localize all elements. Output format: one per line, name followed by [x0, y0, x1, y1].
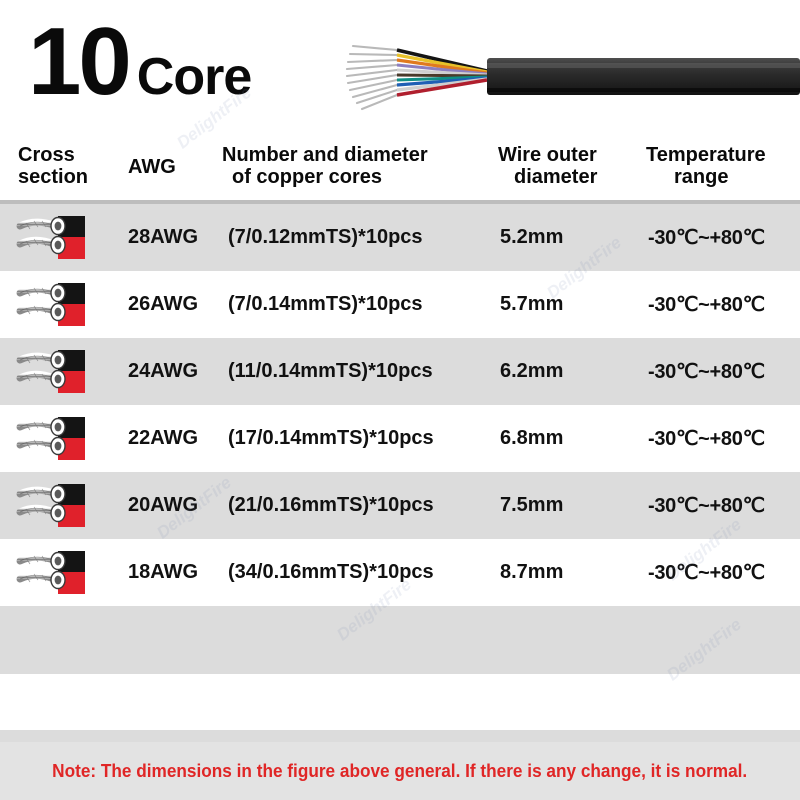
temperature-value: -30℃~+80℃ — [648, 359, 765, 384]
cell-outer-diameter: 5.7mm — [500, 271, 640, 338]
core-count: 10 — [28, 14, 129, 110]
cell-cross-section — [14, 204, 118, 271]
cell-awg: 28AWG — [128, 204, 220, 271]
header-cross-section-line1: Cross — [18, 144, 75, 166]
cell-cross-section — [14, 338, 118, 405]
header-cores-line2: of copper cores — [222, 166, 488, 188]
cell-awg: 22AWG — [128, 405, 220, 472]
header-temp-line1: Temperature — [646, 144, 766, 166]
cross-section-icon — [14, 347, 88, 397]
table-row: 22AWG(17/0.14mmTS)*10pcs6.8mm-30℃~+80℃ — [0, 405, 800, 472]
table-row: 20AWG(21/0.16mmTS)*10pcs7.5mm-30℃~+80℃ — [0, 472, 800, 539]
cell-cross-section — [14, 271, 118, 338]
header-outer-line1: Wire outer — [498, 144, 597, 166]
table-row: 18AWG(34/0.16mmTS)*10pcs8.7mm-30℃~+80℃ — [0, 539, 800, 606]
table-row: 24AWG(11/0.14mmTS)*10pcs6.2mm-30℃~+80℃ — [0, 338, 800, 405]
spec-table-body: 28AWG(7/0.12mmTS)*10pcs5.2mm-30℃~+80℃ — [0, 204, 800, 606]
table-header-row: Cross section AWG Number and diameter of… — [0, 132, 800, 204]
temperature-value: -30℃~+80℃ — [648, 493, 765, 518]
page-title: 10 Core — [28, 14, 251, 110]
cell-cross-section — [14, 405, 118, 472]
cell-outer-diameter: 6.8mm — [500, 405, 640, 472]
cell-copper-cores: (11/0.14mmTS)*10pcs — [228, 338, 490, 405]
header-cores-line1: Number and diameter — [222, 144, 428, 166]
cell-cross-section — [14, 472, 118, 539]
cross-section-icon — [14, 213, 88, 263]
note-bar: Note: The dimensions in the figure above… — [0, 742, 800, 800]
table-row: 26AWG(7/0.14mmTS)*10pcs5.7mm-30℃~+80℃ — [0, 271, 800, 338]
cross-section-icon — [14, 481, 88, 531]
spec-sheet-page: 10 Core — [0, 0, 800, 800]
cell-cross-section — [14, 539, 118, 606]
table-row: 28AWG(7/0.12mmTS)*10pcs5.2mm-30℃~+80℃ — [0, 204, 800, 271]
cell-awg: 18AWG — [128, 539, 220, 606]
header-cross-section-line2: section — [18, 166, 124, 188]
note-text: Note: The dimensions in the figure above… — [52, 760, 747, 782]
cross-section-icon — [14, 548, 88, 598]
temperature-value: -30℃~+80℃ — [648, 560, 765, 585]
filler-band-gray — [0, 606, 800, 674]
header-outer-line2: diameter — [498, 166, 644, 188]
cell-awg: 24AWG — [128, 338, 220, 405]
core-word: Core — [137, 51, 251, 103]
header-wire-outer-diameter: Wire outer diameter — [498, 144, 644, 189]
filler-strip-gray — [0, 730, 800, 742]
multi-core-cable-illustration — [345, 22, 800, 118]
header-cross-section: Cross section — [18, 144, 124, 189]
cell-temperature: -30℃~+80℃ — [648, 472, 798, 539]
cell-copper-cores: (7/0.12mmTS)*10pcs — [228, 204, 490, 271]
temperature-value: -30℃~+80℃ — [648, 426, 765, 451]
header-temp-line2: range — [646, 166, 796, 188]
cell-temperature: -30℃~+80℃ — [648, 405, 798, 472]
header-temperature-range: Temperature range — [646, 144, 796, 189]
cell-temperature: -30℃~+80℃ — [648, 338, 798, 405]
cross-section-icon — [14, 280, 88, 330]
cell-awg: 20AWG — [128, 472, 220, 539]
cell-outer-diameter: 7.5mm — [500, 472, 640, 539]
temperature-value: -30℃~+80℃ — [648, 225, 765, 250]
cell-outer-diameter: 5.2mm — [500, 204, 640, 271]
title-area: 10 Core — [0, 0, 800, 132]
cell-copper-cores: (7/0.14mmTS)*10pcs — [228, 271, 490, 338]
filler-band-white — [0, 674, 800, 730]
cell-copper-cores: (21/0.16mmTS)*10pcs — [228, 472, 490, 539]
cell-copper-cores: (34/0.16mmTS)*10pcs — [228, 539, 490, 606]
header-cores: Number and diameter of copper cores — [222, 144, 488, 189]
header-awg: AWG — [128, 156, 216, 178]
cell-copper-cores: (17/0.14mmTS)*10pcs — [228, 405, 490, 472]
cell-temperature: -30℃~+80℃ — [648, 204, 798, 271]
cross-section-icon — [14, 414, 88, 464]
cell-outer-diameter: 8.7mm — [500, 539, 640, 606]
cell-awg: 26AWG — [128, 271, 220, 338]
cell-temperature: -30℃~+80℃ — [648, 539, 798, 606]
cell-outer-diameter: 6.2mm — [500, 338, 640, 405]
cell-temperature: -30℃~+80℃ — [648, 271, 798, 338]
temperature-value: -30℃~+80℃ — [648, 292, 765, 317]
